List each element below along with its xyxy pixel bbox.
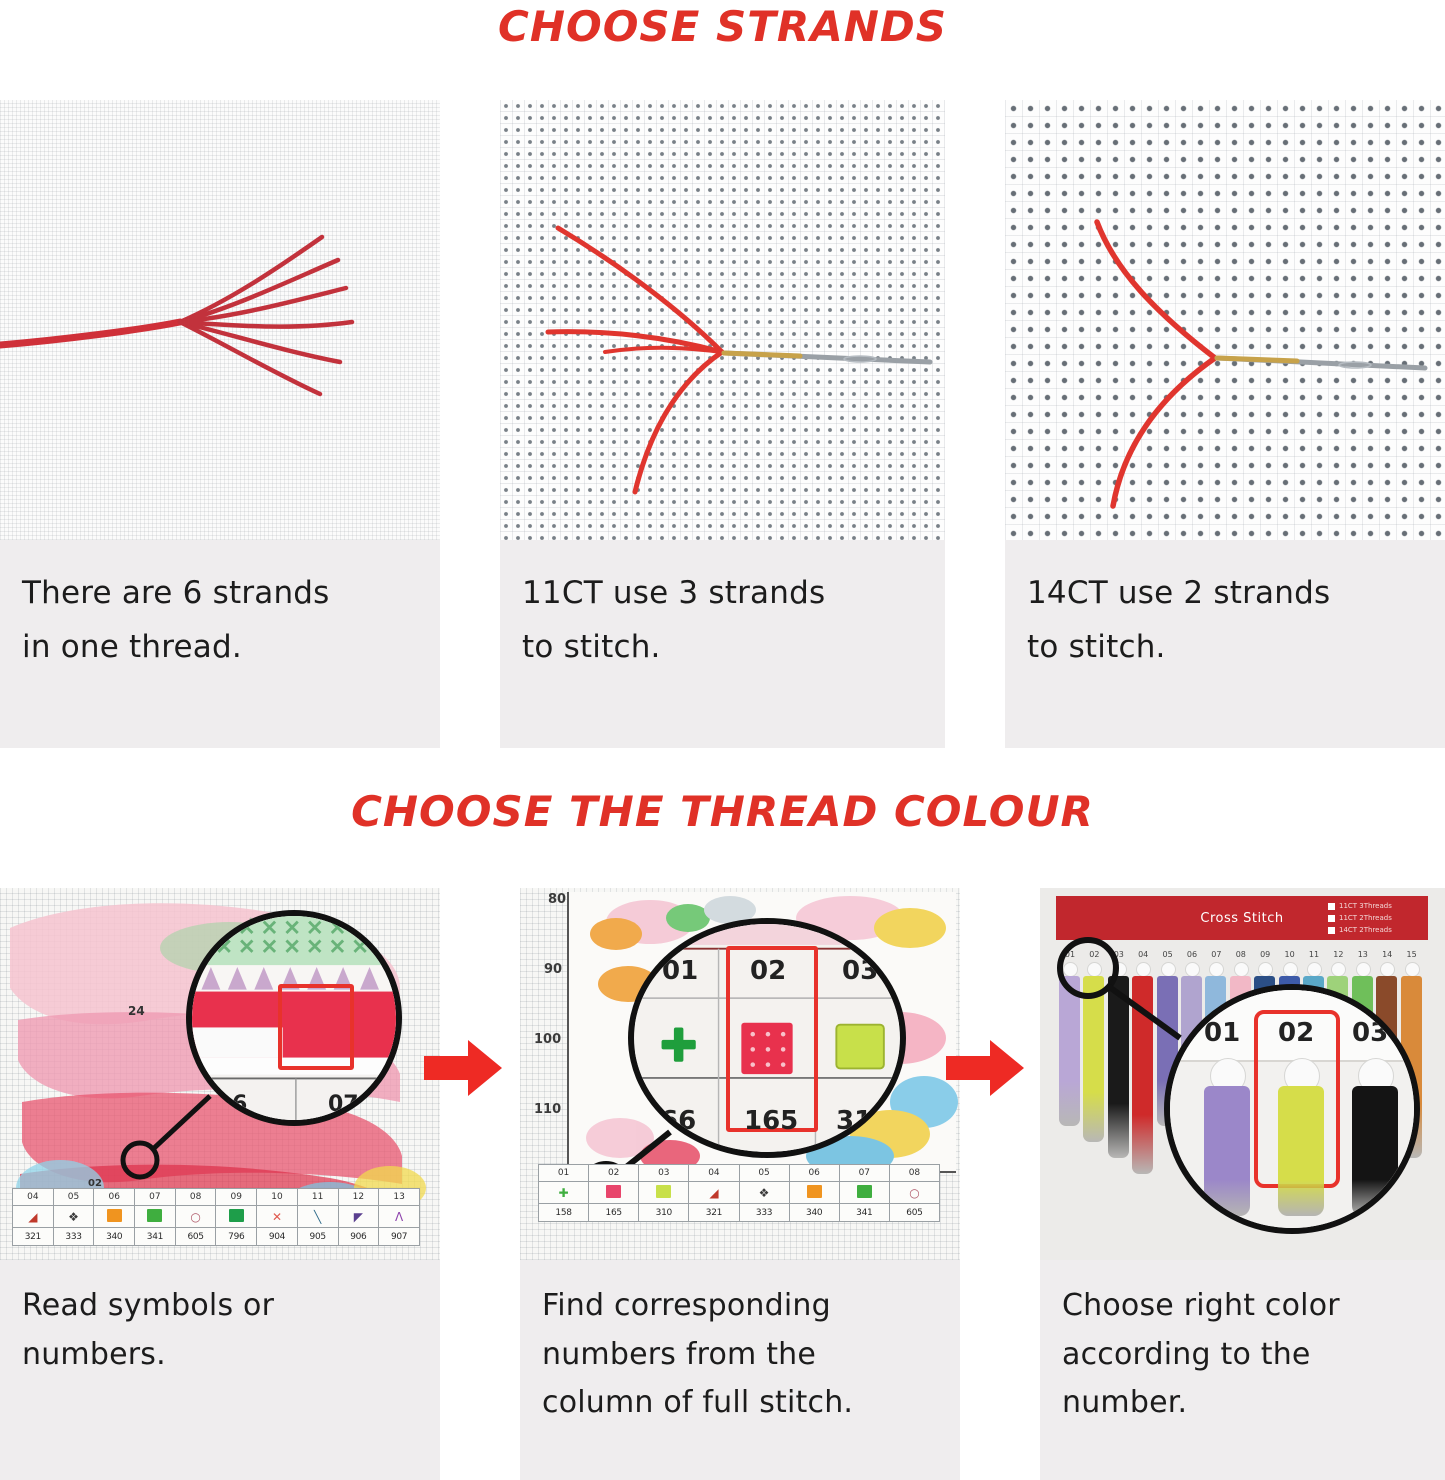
caption-line: Read symbols or — [22, 1282, 418, 1331]
legend-cell: ✚ — [539, 1182, 589, 1204]
legend-cell: 165 — [589, 1204, 639, 1222]
legend-cell: ╲ — [297, 1206, 338, 1228]
legend-symbol: Λ — [395, 1210, 403, 1224]
section-title-choose-strands: CHOOSE STRANDS — [0, 2, 1445, 51]
caption-line: Choose right color — [1062, 1282, 1423, 1331]
infographic-page: CHOOSE STRANDS There are 6 strands in on… — [0, 0, 1445, 1480]
legend-colour-swatch — [147, 1209, 162, 1222]
section-title-choose-thread-colour: CHOOSE THE THREAD COLOUR — [0, 787, 1445, 836]
legend-table-numbers: 0102030405060708✚◢❖○15816531032133334034… — [538, 1164, 940, 1222]
panel-choose-colour: Cross Stitch 11CT 3Threads 11CT 2Threads… — [1040, 888, 1445, 1480]
panel-six-strands: There are 6 strands in one thread. — [0, 100, 440, 748]
legend-cell: 341 — [135, 1228, 176, 1246]
caption-line: to stitch. — [522, 620, 923, 674]
legend-cell: ◢ — [13, 1206, 54, 1228]
legend-symbol: ◤ — [354, 1210, 363, 1224]
arrow-step2-to-step3-icon — [946, 1036, 1024, 1100]
legend-symbol: ○ — [909, 1186, 919, 1200]
legend-cell: 06 — [789, 1165, 839, 1182]
legend-cell: 08 — [889, 1165, 939, 1182]
thread-three-strands-with-needle — [500, 100, 945, 540]
legend-symbol: ○ — [190, 1210, 200, 1224]
caption-find-numbers: Find corresponding numbers from the colu… — [520, 1260, 960, 1480]
panel-14ct-two-strands: 14CT use 2 strands to stitch. — [1005, 100, 1445, 748]
legend-cell: 321 — [13, 1228, 54, 1246]
caption-line: 14CT use 2 strands — [1027, 566, 1423, 620]
legend-symbol: ✕ — [272, 1210, 282, 1224]
legend-cell: 341 — [839, 1204, 889, 1222]
legend-cell — [94, 1206, 135, 1228]
legend-cell: 04 — [689, 1165, 739, 1182]
legend-colour-swatch — [857, 1185, 872, 1198]
magnifier-pointer — [1040, 888, 1445, 1260]
caption-line: Find corresponding — [542, 1282, 938, 1331]
legend-cell: 05 — [53, 1189, 94, 1206]
legend-cell: 07 — [839, 1165, 889, 1182]
legend-cell: 907 — [379, 1228, 420, 1246]
thread-six-strands-illustration — [0, 100, 440, 540]
legend-cell: 07 — [135, 1189, 176, 1206]
caption-line: column of full stitch. — [542, 1379, 938, 1428]
legend-cell: 01 — [539, 1165, 589, 1182]
legend-cell: 605 — [889, 1204, 939, 1222]
caption-14ct: 14CT use 2 strands to stitch. — [1005, 540, 1445, 748]
legend-symbol: ✚ — [559, 1186, 569, 1200]
legend-cell: 09 — [216, 1189, 257, 1206]
legend-cell — [639, 1182, 689, 1204]
legend-cell: 11 — [297, 1189, 338, 1206]
legend-cell: ◤ — [338, 1206, 379, 1228]
needle-icon — [724, 353, 930, 362]
photo-chart-with-axis: 80 90 100 110 — [520, 888, 960, 1260]
legend-cell: 904 — [257, 1228, 298, 1246]
thread-two-strands-with-needle — [1005, 100, 1445, 540]
legend-colour-swatch — [807, 1185, 822, 1198]
needle-icon — [1217, 358, 1425, 368]
legend-cell: 333 — [53, 1228, 94, 1246]
caption-choose-colour: Choose right color according to the numb… — [1040, 1260, 1445, 1480]
legend-cell — [216, 1206, 257, 1228]
legend-cell: 796 — [216, 1228, 257, 1246]
photo-thread-card: Cross Stitch 11CT 3Threads 11CT 2Threads… — [1040, 888, 1445, 1260]
caption-line: There are 6 strands — [22, 566, 418, 620]
legend-cell — [839, 1182, 889, 1204]
legend-symbol: ❖ — [759, 1186, 770, 1200]
caption-line: according to the — [1062, 1331, 1423, 1380]
caption-six-strands: There are 6 strands in one thread. — [0, 540, 440, 748]
legend-table-symbols: 04050607080910111213◢❖○✕╲◤Λ3213333403416… — [12, 1188, 420, 1246]
legend-symbol: ❖ — [68, 1210, 79, 1224]
legend-cell: 310 — [639, 1204, 689, 1222]
legend-cell: 10 — [257, 1189, 298, 1206]
photo-11ct — [500, 100, 945, 540]
legend-cell: 605 — [175, 1228, 216, 1246]
legend-cell — [589, 1182, 639, 1204]
legend-colour-swatch — [229, 1209, 244, 1222]
legend-colour-swatch — [656, 1185, 671, 1198]
legend-cell: 340 — [94, 1228, 135, 1246]
legend-cell: Λ — [379, 1206, 420, 1228]
legend-cell — [135, 1206, 176, 1228]
caption-11ct: 11CT use 3 strands to stitch. — [500, 540, 945, 748]
caption-line: number. — [1062, 1379, 1423, 1428]
legend-symbol: ╲ — [314, 1210, 321, 1224]
legend-colour-swatch — [107, 1209, 122, 1222]
legend-cell: 03 — [639, 1165, 689, 1182]
caption-line: in one thread. — [22, 620, 418, 674]
photo-pattern-chart: 24 02 — [0, 888, 440, 1260]
legend-cell: 340 — [789, 1204, 839, 1222]
legend-cell: ○ — [175, 1206, 216, 1228]
legend-cell: 158 — [539, 1204, 589, 1222]
legend-cell: 08 — [175, 1189, 216, 1206]
legend-symbol: ◢ — [709, 1186, 718, 1200]
legend-cell: 02 — [589, 1165, 639, 1182]
legend-cell: 06 — [94, 1189, 135, 1206]
legend-cell: ❖ — [53, 1206, 94, 1228]
legend-cell: ✕ — [257, 1206, 298, 1228]
legend-cell: 04 — [13, 1189, 54, 1206]
arrow-step1-to-step2-icon — [424, 1036, 502, 1100]
legend-cell: 321 — [689, 1204, 739, 1222]
legend-cell: ❖ — [739, 1182, 789, 1204]
panel-find-numbers: 80 90 100 110 — [520, 888, 960, 1480]
caption-line: numbers. — [22, 1331, 418, 1380]
legend-colour-swatch — [606, 1185, 621, 1198]
caption-line: to stitch. — [1027, 620, 1423, 674]
panel-read-symbols: 24 02 — [0, 888, 440, 1480]
legend-cell: 05 — [739, 1165, 789, 1182]
photo-six-strands — [0, 100, 440, 540]
legend-cell: 333 — [739, 1204, 789, 1222]
caption-read-symbols: Read symbols or numbers. — [0, 1260, 440, 1480]
legend-cell: ○ — [889, 1182, 939, 1204]
legend-cell: 12 — [338, 1189, 379, 1206]
panel-11ct-three-strands: 11CT use 3 strands to stitch. — [500, 100, 945, 748]
legend-cell: ◢ — [689, 1182, 739, 1204]
legend-cell: 905 — [297, 1228, 338, 1246]
legend-symbol: ◢ — [28, 1210, 37, 1224]
caption-line: 11CT use 3 strands — [522, 566, 923, 620]
photo-14ct — [1005, 100, 1445, 540]
legend-cell: 906 — [338, 1228, 379, 1246]
caption-line: numbers from the — [542, 1331, 938, 1380]
legend-cell: 13 — [379, 1189, 420, 1206]
legend-cell — [789, 1182, 839, 1204]
